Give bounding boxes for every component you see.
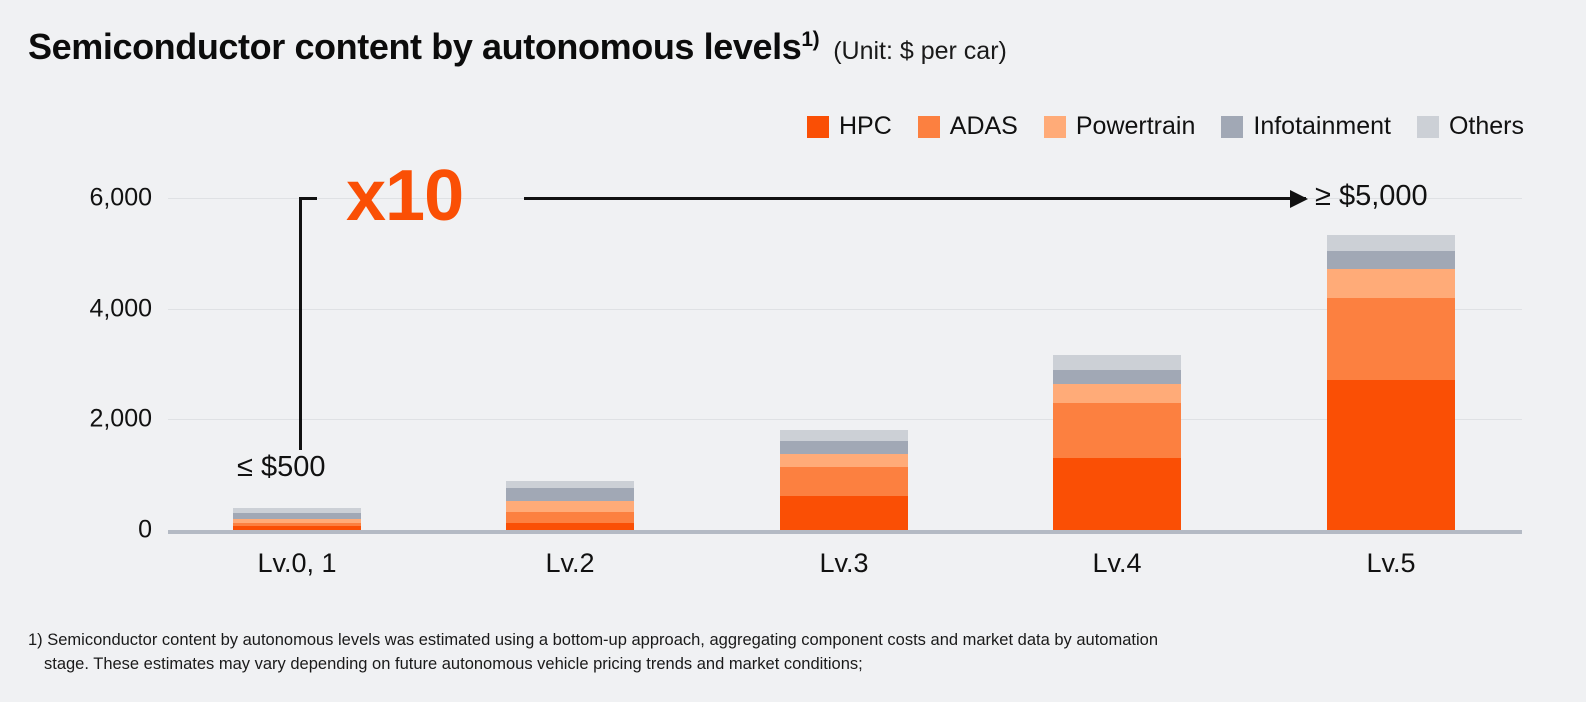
bar-segment-infotainment[interactable]: [1053, 370, 1181, 384]
footnote-line-1: 1) Semiconductor content by autonomous l…: [28, 631, 1158, 649]
bar-stack[interactable]: [780, 430, 908, 530]
bar-segment-hpc[interactable]: [506, 523, 634, 530]
bar-segment-powertrain[interactable]: [1053, 384, 1181, 403]
low-value-annotation: ≤ $500: [237, 451, 326, 484]
bar-stack[interactable]: [1327, 235, 1455, 530]
y-axis-tick-label: 0: [32, 516, 152, 545]
chart-plot-area: 02,0004,0006,000 Lv.0, 1Lv.2Lv.3Lv.4Lv.5…: [0, 0, 1586, 702]
bar-segment-others[interactable]: [1327, 235, 1455, 251]
x-axis-label: Lv.3: [734, 548, 954, 579]
gridline: [168, 309, 1522, 310]
bar-segment-adas[interactable]: [233, 523, 361, 526]
bar-segment-hpc[interactable]: [233, 526, 361, 530]
bar-segment-infotainment[interactable]: [506, 488, 634, 501]
bar-segment-others[interactable]: [233, 508, 361, 513]
bar-segment-infotainment[interactable]: [233, 513, 361, 519]
growth-bracket-line: [299, 197, 302, 450]
bar-segment-others[interactable]: [780, 430, 908, 441]
x-axis-label: Lv.4: [1007, 548, 1227, 579]
growth-arrow-icon: [524, 197, 1306, 200]
x-axis-label: Lv.5: [1281, 548, 1501, 579]
bar-segment-hpc[interactable]: [1053, 458, 1181, 530]
bar-segment-powertrain[interactable]: [1327, 269, 1455, 298]
bar-segment-others[interactable]: [1053, 355, 1181, 370]
bar-segment-adas[interactable]: [1053, 403, 1181, 458]
y-axis-tick-label: 4,000: [32, 294, 152, 323]
y-axis-tick-label: 2,000: [32, 405, 152, 434]
x-axis-label: Lv.0, 1: [187, 548, 407, 579]
bar-segment-others[interactable]: [506, 481, 634, 488]
bar-segment-adas[interactable]: [506, 512, 634, 523]
bar-stack[interactable]: [1053, 355, 1181, 530]
bar-segment-hpc[interactable]: [1327, 380, 1455, 531]
growth-multiplier-label: x10: [346, 160, 463, 232]
bar-stack[interactable]: [233, 508, 361, 530]
x-axis-line: [168, 530, 1522, 534]
bar-stack[interactable]: [506, 481, 634, 530]
bar-segment-powertrain[interactable]: [506, 501, 634, 512]
bar-segment-hpc[interactable]: [780, 496, 908, 530]
bar-segment-powertrain[interactable]: [233, 519, 361, 523]
bar-segment-adas[interactable]: [780, 467, 908, 496]
high-value-annotation: ≥ $5,000: [1315, 180, 1428, 213]
gridline: [168, 419, 1522, 420]
bar-segment-infotainment[interactable]: [780, 441, 908, 454]
bar-segment-powertrain[interactable]: [780, 454, 908, 467]
bar-segment-infotainment[interactable]: [1327, 251, 1455, 269]
bar-segment-adas[interactable]: [1327, 298, 1455, 380]
x-axis-label: Lv.2: [460, 548, 680, 579]
y-axis-tick-label: 6,000: [32, 184, 152, 213]
footnote-line-2: stage. These estimates may vary dependin…: [28, 653, 1358, 677]
footnote: 1) Semiconductor content by autonomous l…: [28, 629, 1358, 677]
